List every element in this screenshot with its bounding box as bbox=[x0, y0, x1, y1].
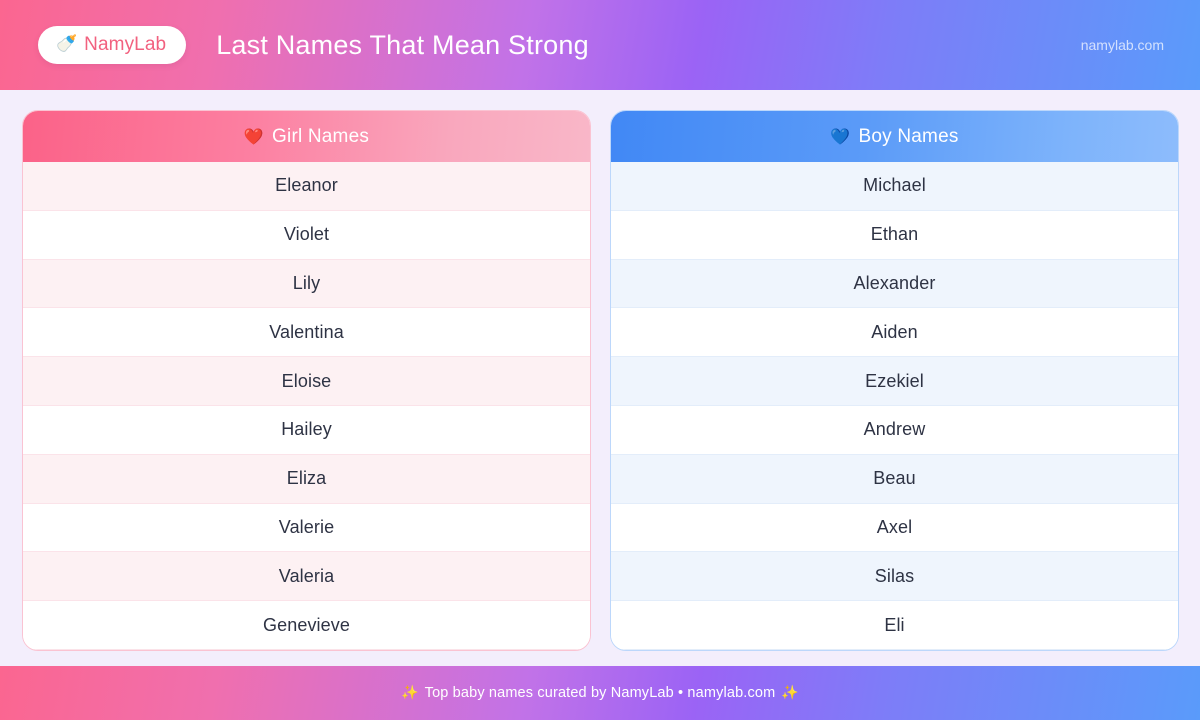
red-heart-icon: ❤️ bbox=[244, 129, 264, 145]
list-item[interactable]: Valeria bbox=[23, 552, 590, 601]
list-item[interactable]: Eliza bbox=[23, 455, 590, 504]
girl-names-card: ❤️ Girl Names Eleanor Violet Lily Valent… bbox=[22, 110, 591, 651]
boy-names-list: Michael Ethan Alexander Aiden Ezekiel An… bbox=[611, 162, 1178, 650]
list-item[interactable]: Hailey bbox=[23, 406, 590, 455]
list-item[interactable]: Violet bbox=[23, 211, 590, 260]
list-item[interactable]: Beau bbox=[611, 455, 1178, 504]
site-url: namylab.com bbox=[1081, 37, 1176, 53]
boy-names-card: 💙 Boy Names Michael Ethan Alexander Aide… bbox=[610, 110, 1179, 651]
baby-bottle-icon: 🍼 bbox=[56, 36, 77, 53]
page-footer: ✨ Top baby names curated by NamyLab • na… bbox=[0, 666, 1200, 720]
list-item[interactable]: Ezekiel bbox=[611, 357, 1178, 406]
brand-name: NamyLab bbox=[84, 35, 166, 54]
list-item[interactable]: Eloise bbox=[23, 357, 590, 406]
list-item[interactable]: Alexander bbox=[611, 260, 1178, 309]
girl-names-list: Eleanor Violet Lily Valentina Eloise Hai… bbox=[23, 162, 590, 650]
list-item[interactable]: Michael bbox=[611, 162, 1178, 211]
sparkles-icon: ✨ bbox=[401, 685, 419, 701]
blue-heart-icon: 💙 bbox=[830, 129, 850, 145]
list-item[interactable]: Ethan bbox=[611, 211, 1178, 260]
list-item[interactable]: Aiden bbox=[611, 308, 1178, 357]
list-item[interactable]: Andrew bbox=[611, 406, 1178, 455]
sparkles-icon: ✨ bbox=[781, 685, 799, 701]
list-item[interactable]: Axel bbox=[611, 504, 1178, 553]
name-cards-container: ❤️ Girl Names Eleanor Violet Lily Valent… bbox=[0, 90, 1200, 666]
list-item[interactable]: Eli bbox=[611, 601, 1178, 650]
footer-credit-text: Top baby names curated by NamyLab • namy… bbox=[419, 685, 782, 701]
girl-names-card-header: ❤️ Girl Names bbox=[23, 111, 590, 162]
boy-names-card-header: 💙 Boy Names bbox=[611, 111, 1178, 162]
brand-logo-badge[interactable]: 🍼 NamyLab bbox=[38, 26, 186, 64]
list-item[interactable]: Silas bbox=[611, 552, 1178, 601]
list-item[interactable]: Valentina bbox=[23, 308, 590, 357]
page-header: 🍼 NamyLab Last Names That Mean Strong na… bbox=[0, 0, 1200, 90]
list-item[interactable]: Lily bbox=[23, 260, 590, 309]
list-item[interactable]: Eleanor bbox=[23, 162, 590, 211]
boy-names-card-title: Boy Names bbox=[859, 126, 959, 148]
list-item[interactable]: Genevieve bbox=[23, 601, 590, 650]
page-title: Last Names That Mean Strong bbox=[216, 30, 589, 61]
girl-names-card-title: Girl Names bbox=[272, 126, 369, 148]
list-item[interactable]: Valerie bbox=[23, 504, 590, 553]
